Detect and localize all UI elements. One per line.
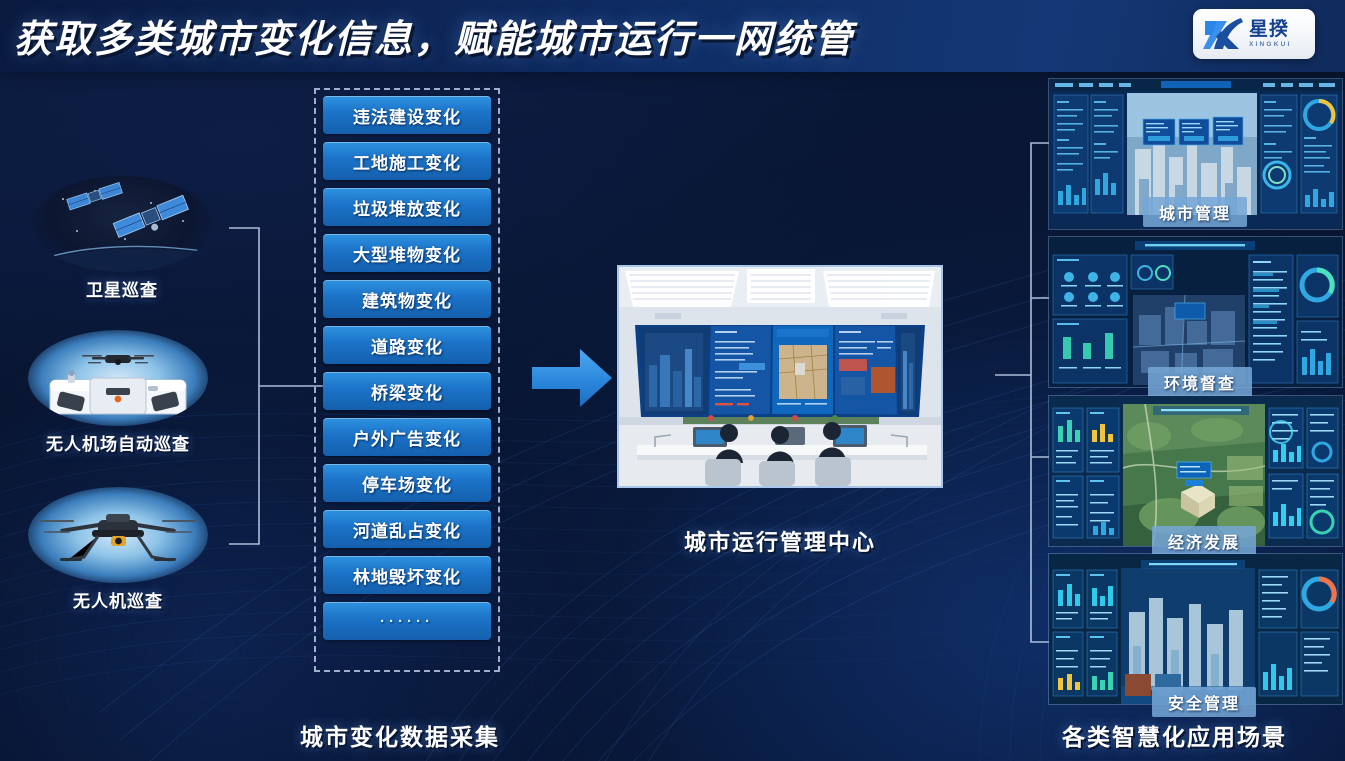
source-label: 卫星巡查 [22,276,222,301]
logo-name-en: XINGKUI [1249,42,1292,49]
source-satellite[interactable]: 卫星巡查 [22,176,222,301]
change-chip[interactable]: 林地毁坏变化 [323,556,491,594]
source-label: 无人机巡查 [18,587,218,612]
scene-environment-inspection[interactable] [1048,236,1343,388]
scene-label: 经济发展 [1152,526,1256,556]
change-chip-more[interactable]: ······ [323,602,491,640]
change-chip[interactable]: 户外广告变化 [323,418,491,456]
scene-economic-development[interactable] [1048,395,1343,547]
logo-wordmark: 星揆 XINGKUI [1249,20,1292,49]
scene-label: 安全管理 [1152,687,1256,717]
change-chip[interactable]: 大型堆物变化 [323,234,491,272]
source-label: 无人机场自动巡查 [18,430,218,455]
left-section-caption: 城市变化数据采集 [300,718,500,752]
scene-label: 环境督查 [1148,367,1252,397]
drone-icon [28,487,208,583]
header-bar: 获取多类城市变化信息，赋能城市运行一网统管 星揆 XINGKUI [0,0,1345,72]
scene-label: 城市管理 [1143,197,1247,227]
page-title: 获取多类城市变化信息，赋能城市运行一网统管 [14,8,854,63]
k-letter-logo-icon [1201,15,1245,53]
right-section-caption: 各类智慧化应用场景 [1062,718,1287,752]
change-type-list: 违法建设变化 工地施工变化 垃圾堆放变化 大型堆物变化 建筑物变化 道路变化 桥… [314,88,500,672]
source-drone[interactable]: 无人机巡查 [18,487,218,612]
operations-center-photo [617,265,943,488]
satellite-icon [32,176,212,272]
brand-logo[interactable]: 星揆 XINGKUI [1193,9,1315,59]
center-caption: 城市运行管理中心 [617,525,943,557]
change-chip[interactable]: 工地施工变化 [323,142,491,180]
logo-name-cn: 星揆 [1249,20,1292,39]
source-drone-hangar[interactable]: 无人机场自动巡查 [18,330,218,455]
change-chip[interactable]: 建筑物变化 [323,280,491,318]
change-chip[interactable]: 桥梁变化 [323,372,491,410]
change-chip[interactable]: 道路变化 [323,326,491,364]
drone-hangar-icon [28,330,208,426]
change-chip[interactable]: 违法建设变化 [323,96,491,134]
change-chip[interactable]: 河道乱占变化 [323,510,491,548]
change-chip[interactable]: 垃圾堆放变化 [323,188,491,226]
scene-safety-management[interactable] [1048,553,1343,705]
change-chip[interactable]: 停车场变化 [323,464,491,502]
slide-canvas: 获取多类城市变化信息，赋能城市运行一网统管 星揆 XINGKUI [0,0,1345,761]
right-arrow-icon [530,345,614,411]
